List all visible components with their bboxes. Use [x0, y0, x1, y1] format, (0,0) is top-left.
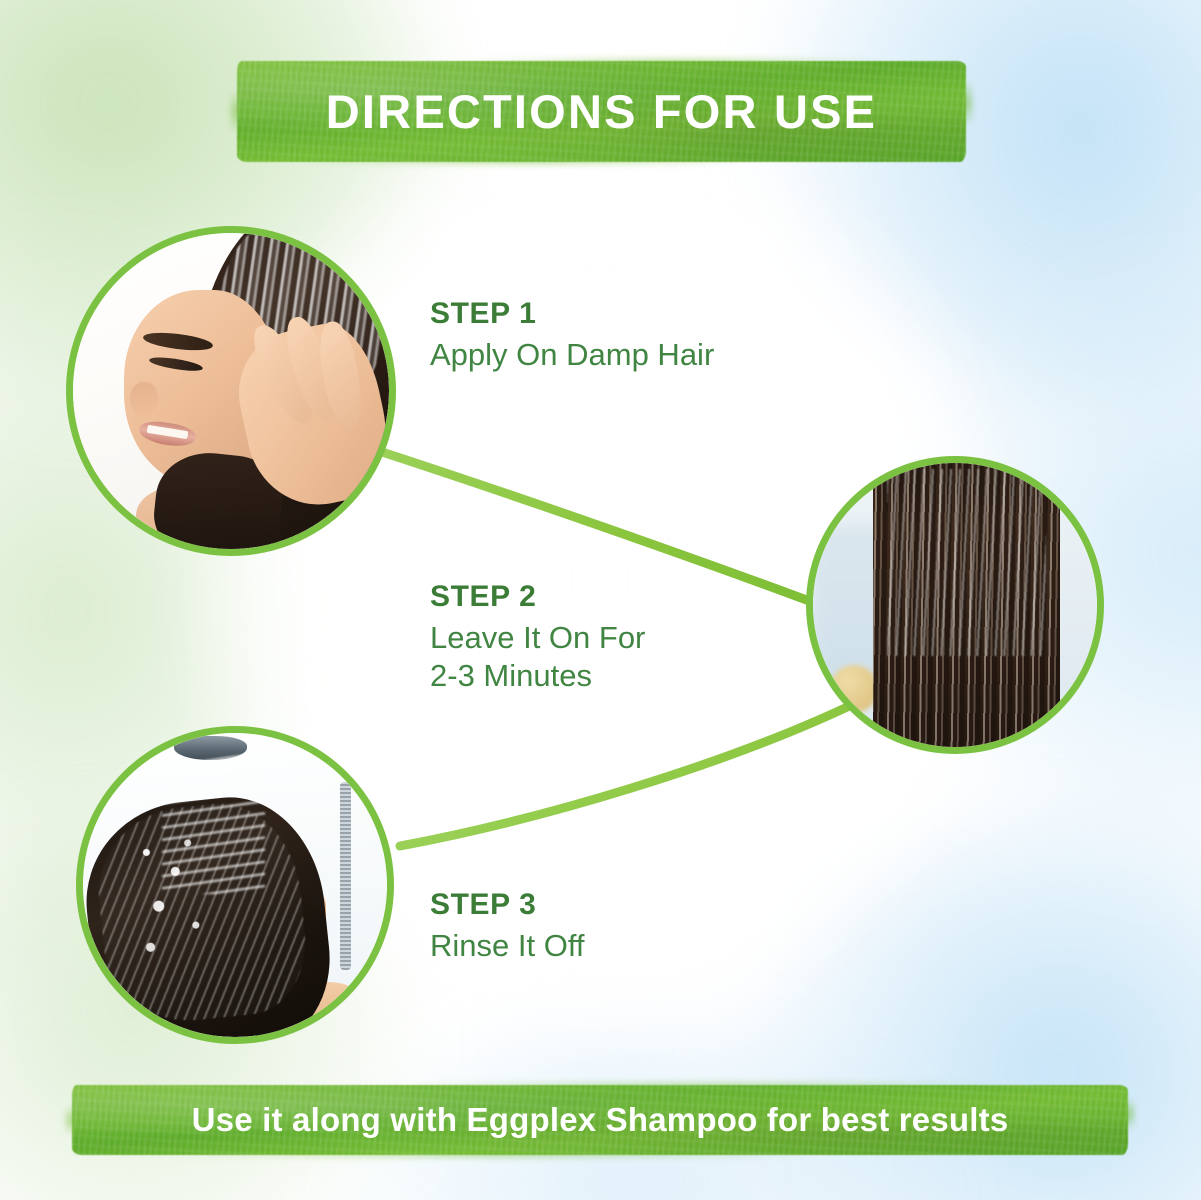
step-2-description-line-1: Leave It On For: [430, 619, 645, 657]
step-2-description-line-2: 2-3 Minutes: [430, 657, 645, 695]
step-2-photo: [813, 463, 1097, 747]
step-1-photo: [73, 233, 389, 549]
directions-for-use-infographic: DIRECTIONS FOR USE: [0, 0, 1201, 1200]
footer-note: Use it along with Eggplex Shampoo for be…: [192, 1101, 1009, 1139]
step-1-photo-circle: [66, 226, 396, 556]
connector-step2-to-step3: [400, 700, 862, 846]
photo3-shower-hose: [340, 782, 350, 970]
step-3-photo-circle: [76, 726, 394, 1044]
page-title-banner: DIRECTIONS FOR USE: [237, 61, 966, 162]
step-2-title: STEP 2: [430, 580, 645, 613]
photo2-product-coating: [887, 469, 1046, 656]
step-1-text-block: STEP 1 Apply On Damp Hair: [430, 297, 714, 374]
step-3-photo: [83, 733, 387, 1037]
step-3-title: STEP 3: [430, 888, 585, 921]
page-title: DIRECTIONS FOR USE: [326, 84, 877, 139]
step-2-text-block: STEP 2 Leave It On For 2-3 Minutes: [430, 580, 645, 695]
footer-note-banner: Use it along with Eggplex Shampoo for be…: [72, 1085, 1128, 1155]
photo3-water-droplets: [132, 824, 235, 982]
step-3-text-block: STEP 3 Rinse It Off: [430, 888, 585, 965]
step-2-photo-circle: [806, 456, 1104, 754]
step-1-title: STEP 1: [430, 297, 714, 330]
step-3-description-line-1: Rinse It Off: [430, 927, 585, 965]
photo2-sponge: [830, 665, 878, 713]
step-1-description-line-1: Apply On Damp Hair: [430, 336, 714, 374]
